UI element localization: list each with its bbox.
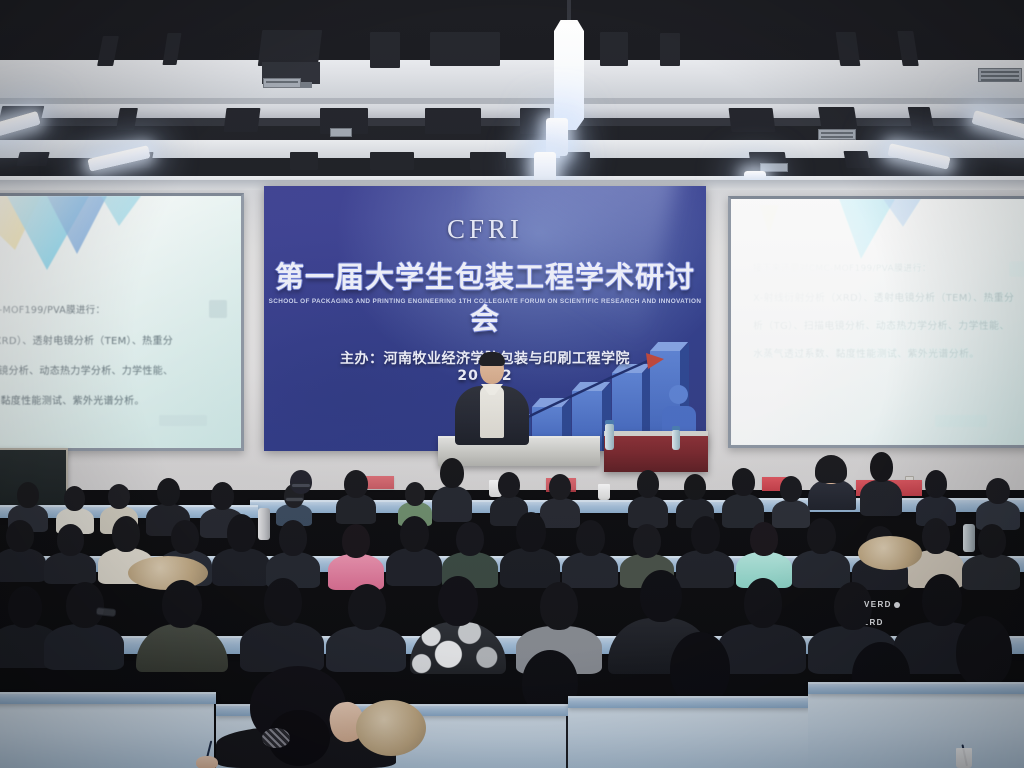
speaker <box>455 350 529 445</box>
hair-scrunchie <box>262 728 290 748</box>
audience-member-glasses <box>44 582 124 668</box>
ceiling-beam <box>818 107 858 131</box>
projection-screen-right: 接下来还要对CMC-MOF199/PVA膜进行： X-射线衍射分析（XRD）、透… <box>728 196 1024 448</box>
audience-member <box>326 584 406 670</box>
pendant-light-cord <box>567 0 571 22</box>
paper-cup <box>598 484 610 500</box>
ceiling-light-tube <box>534 152 556 182</box>
audience-member <box>284 470 318 502</box>
ceiling-beam <box>600 32 628 66</box>
ceiling-beam <box>660 33 680 66</box>
ceiling-beam <box>290 152 318 170</box>
conference-photo-scene: …要对CMC-MOF199/PVA膜进行： …射分析（XRD）、透射电镜分析（T… <box>0 0 1024 768</box>
fur-hood-trim <box>858 536 922 570</box>
ceiling-beam <box>844 151 871 168</box>
front-desk-surface-far-right <box>808 690 1024 768</box>
audience-member <box>240 578 324 670</box>
jacket-logo-badge: VERD <box>864 600 900 609</box>
ceiling-beam <box>16 152 49 166</box>
front-desk-edge-far-right <box>808 682 1024 694</box>
audience-member <box>336 470 376 524</box>
ceiling-vent <box>978 68 1022 82</box>
audience-member <box>628 470 668 526</box>
audience-member-olive-parka <box>136 580 228 670</box>
front-desk-edge-right <box>568 696 810 708</box>
audience-member <box>976 478 1020 528</box>
audience-member <box>44 524 96 582</box>
ceiling <box>0 0 1024 190</box>
ceiling-light-tube <box>546 118 568 156</box>
paper-cup <box>956 748 972 768</box>
audience-member <box>860 452 902 514</box>
front-desk-edge-left <box>0 692 216 704</box>
ceiling-vent <box>330 128 352 137</box>
ceiling-beam <box>470 152 506 170</box>
fur-hood-trim <box>356 700 426 756</box>
jacket-logo-dot-icon <box>894 602 900 608</box>
observer-hair <box>815 455 847 483</box>
speaker-hair <box>479 352 505 366</box>
audience-member <box>432 458 472 520</box>
projection-screen-left: …要对CMC-MOF199/PVA膜进行： …射分析（XRD）、透射电镜分析（T… <box>0 193 244 451</box>
ceiling-beam <box>224 108 261 132</box>
audience-member <box>266 520 320 586</box>
audience-member <box>212 514 270 584</box>
ceiling-beam <box>370 152 414 170</box>
hand <box>196 756 218 768</box>
banner-subtitle-en: SCHOOL OF PACKAGING AND PRINTING ENGINEE… <box>264 298 706 305</box>
ceiling-beam <box>258 30 322 66</box>
banner-title-cn: 第一届大学生包装工程学术研讨会 <box>264 254 706 338</box>
ceiling-beam <box>908 107 935 131</box>
lectern-podium <box>604 432 708 472</box>
audience-member-mint-hoodie <box>736 522 792 586</box>
audience-member <box>0 520 46 580</box>
ceiling-beam <box>425 108 481 134</box>
audience-member <box>500 512 560 586</box>
front-desk-surface-left <box>0 700 214 768</box>
ceiling-beam <box>370 32 400 68</box>
front-desk-surface-right <box>568 704 808 768</box>
audience-member <box>916 470 956 524</box>
ceiling-vent <box>263 78 301 88</box>
audience-member-pink-jacket <box>328 524 384 588</box>
ceiling-light-tube <box>744 171 766 179</box>
audience-member <box>792 518 850 586</box>
water-bottle <box>605 424 614 450</box>
audience-member <box>386 516 442 584</box>
banner-acronym: CFRI <box>264 214 706 245</box>
standing-observer <box>806 456 856 510</box>
ceiling-vent <box>818 129 856 140</box>
pendant-light <box>554 20 584 130</box>
ceiling-beam <box>729 108 776 132</box>
ceiling-beam <box>430 32 500 66</box>
jacket-logo-label: VERD <box>864 600 892 609</box>
water-bottle <box>672 430 680 450</box>
